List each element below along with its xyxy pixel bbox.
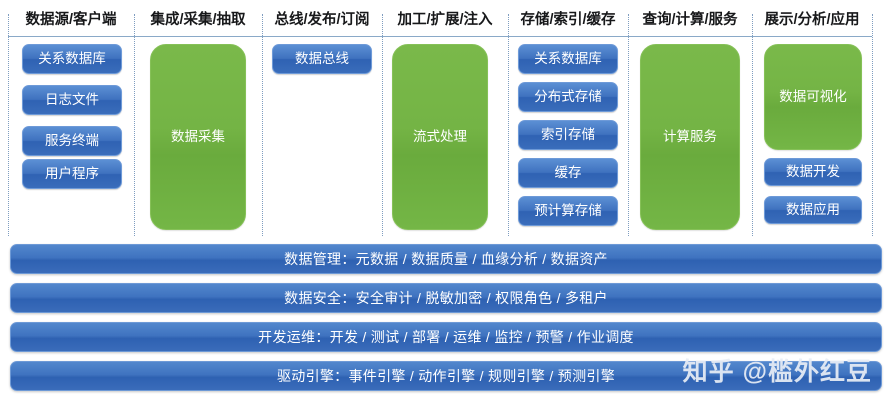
layered-architecture-columns: 数据源/客户端 集成/采集/抽取 总线/发布/订阅 加工/扩展/注入 存储/索引… <box>0 0 890 238</box>
column-header-query: 查询/计算/服务 <box>628 10 752 30</box>
node-user-program[interactable]: 用户程序 <box>22 159 122 189</box>
column-header-integration: 集成/采集/抽取 <box>134 10 262 30</box>
bar-data-management-label: 数据管理：元数据 / 数据质量 / 血缘分析 / 数据资产 <box>284 249 608 269</box>
bar-devops-label: 开发运维：开发 / 测试 / 部署 / 运维 / 监控 / 预警 / 作业调度 <box>258 327 634 347</box>
diagram-canvas: 数据源/客户端 集成/采集/抽取 总线/发布/订阅 加工/扩展/注入 存储/索引… <box>0 0 890 400</box>
bar-driver-engine[interactable]: 驱动引擎：事件引擎 / 动作引擎 / 规则引擎 / 预测引擎 <box>10 361 882 391</box>
node-log-files[interactable]: 日志文件 <box>22 85 122 115</box>
bar-data-security[interactable]: 数据安全：安全审计 / 脱敏加密 / 权限角色 / 多租户 <box>10 283 882 313</box>
node-cache[interactable]: 缓存 <box>518 158 618 188</box>
column-divider-2 <box>262 14 263 236</box>
column-header-processing: 加工/扩展/注入 <box>382 10 508 30</box>
column-divider-4 <box>508 14 509 236</box>
node-compute-service[interactable]: 计算服务 <box>640 44 740 230</box>
node-relational-database-source[interactable]: 关系数据库 <box>22 44 122 74</box>
node-precomputed-storage[interactable]: 预计算存储 <box>518 196 618 226</box>
header-separator-rule <box>8 36 872 37</box>
column-header-data-source: 数据源/客户端 <box>8 10 134 30</box>
column-header-storage: 存储/索引/缓存 <box>508 10 628 30</box>
node-data-development[interactable]: 数据开发 <box>764 158 862 186</box>
bar-devops[interactable]: 开发运维：开发 / 测试 / 部署 / 运维 / 监控 / 预警 / 作业调度 <box>10 322 882 352</box>
column-divider-right-edge <box>872 14 873 236</box>
bar-data-management[interactable]: 数据管理：元数据 / 数据质量 / 血缘分析 / 数据资产 <box>10 244 882 274</box>
node-data-bus[interactable]: 数据总线 <box>272 44 372 74</box>
bar-driver-engine-label: 驱动引擎：事件引擎 / 动作引擎 / 规则引擎 / 预测引擎 <box>277 366 615 386</box>
cross-cutting-capability-bars: 数据管理：元数据 / 数据质量 / 血缘分析 / 数据资产 数据安全：安全审计 … <box>0 240 890 400</box>
column-divider-6 <box>752 14 753 236</box>
node-data-visualization[interactable]: 数据可视化 <box>764 44 862 150</box>
column-header-presentation: 展示/分析/应用 <box>752 10 872 30</box>
column-divider-1 <box>134 14 135 236</box>
node-index-storage[interactable]: 索引存储 <box>518 120 618 150</box>
bar-data-security-label: 数据安全：安全审计 / 脱敏加密 / 权限角色 / 多租户 <box>284 288 608 308</box>
node-stream-processing[interactable]: 流式处理 <box>392 44 488 230</box>
node-relational-database-storage[interactable]: 关系数据库 <box>518 44 618 74</box>
node-data-collection[interactable]: 数据采集 <box>150 44 246 230</box>
node-data-application[interactable]: 数据应用 <box>764 196 862 224</box>
column-divider-5 <box>628 14 629 236</box>
column-divider-3 <box>382 14 383 236</box>
node-distributed-storage[interactable]: 分布式存储 <box>518 82 618 112</box>
column-divider-left-edge <box>8 14 9 236</box>
node-service-terminal[interactable]: 服务终端 <box>22 126 122 156</box>
column-header-bus: 总线/发布/订阅 <box>262 10 382 30</box>
